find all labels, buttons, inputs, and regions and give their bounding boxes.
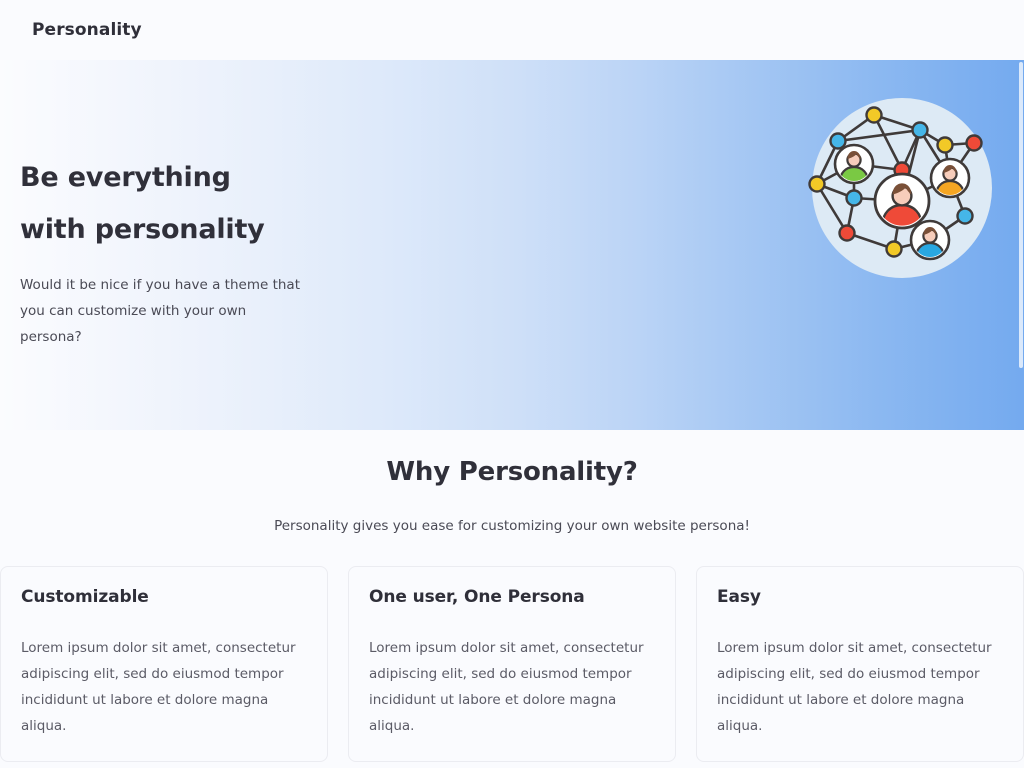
- hero-text-block: Be everything with personality Would it …: [20, 60, 520, 430]
- feature-card-body: Lorem ipsum dolor sit amet, consectetur …: [369, 635, 655, 739]
- feature-card-easy[interactable]: Easy Lorem ipsum dolor sit amet, consect…: [696, 566, 1024, 762]
- node-blue-upper-right: [913, 123, 928, 138]
- page-scrollbar-track[interactable]: [1019, 0, 1024, 768]
- node-red-upper-right: [967, 136, 982, 151]
- why-section: Why Personality? Personality gives you e…: [0, 430, 1024, 536]
- node-yellow-left: [810, 177, 825, 192]
- node-yellow-top: [867, 108, 882, 123]
- hero-subtitle: Would it be nice if you have a theme tha…: [20, 272, 305, 350]
- hero-banner: Be everything with personality Would it …: [0, 60, 1024, 430]
- feature-card-title: Easy: [717, 585, 1003, 609]
- why-section-subtitle: Personality gives you ease for customizi…: [0, 516, 1024, 536]
- hero-heading: Be everything with personality: [20, 152, 265, 256]
- why-section-title: Why Personality?: [0, 456, 1024, 488]
- site-header: Personality: [0, 0, 1024, 60]
- feature-cards: Customizable Lorem ipsum dolor sit amet,…: [1, 536, 1023, 762]
- feature-card-customizable[interactable]: Customizable Lorem ipsum dolor sit amet,…: [0, 566, 328, 762]
- feature-card-title: Customizable: [21, 585, 307, 609]
- feature-card-body: Lorem ipsum dolor sit amet, consectetur …: [717, 635, 1003, 739]
- node-red-lower-left: [840, 226, 855, 241]
- feature-card-one-user-one-persona[interactable]: One user, One Persona Lorem ipsum dolor …: [348, 566, 676, 762]
- feature-card-title: One user, One Persona: [369, 585, 655, 609]
- social-network-illustration: [802, 88, 1002, 288]
- node-yellow-bottom: [887, 242, 902, 257]
- node-blue-upper-left: [831, 134, 846, 149]
- feature-card-body: Lorem ipsum dolor sit amet, consectetur …: [21, 635, 307, 739]
- page-scrollbar-thumb[interactable]: [1019, 62, 1023, 368]
- hero-heading-line-1: Be everything: [20, 152, 265, 204]
- hero-heading-line-2: with personality: [20, 204, 265, 256]
- node-blue-lower-right: [958, 209, 973, 224]
- node-yellow-right: [938, 138, 953, 153]
- node-blue-left: [847, 191, 862, 206]
- brand-title[interactable]: Personality: [32, 20, 142, 40]
